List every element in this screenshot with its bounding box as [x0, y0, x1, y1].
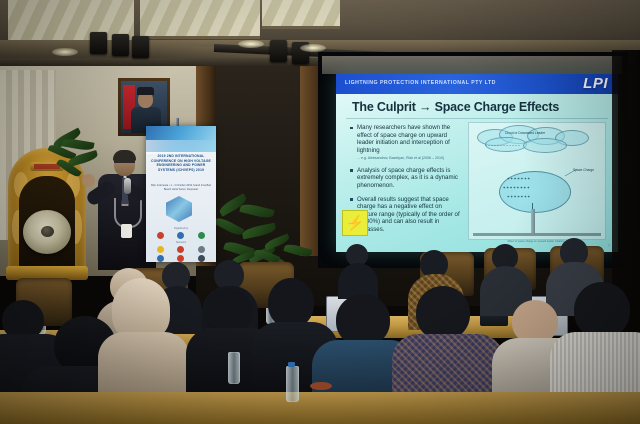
water-bottle	[228, 352, 240, 384]
slide-bullet: Analysis of space charge effects is extr…	[350, 167, 462, 190]
slide-number: 7	[608, 244, 610, 248]
eyeglasses-icon	[114, 161, 135, 167]
slide-diagram: Cloud or Downward Leader – – – – – – – –…	[468, 122, 606, 240]
peci-cap	[137, 87, 154, 95]
conference-photo-scene: 2019 2ND INTERNATIONAL CONFERENCE ON HIG…	[0, 0, 640, 424]
slide-title: The Culprit → Space Charge Effects	[352, 100, 559, 114]
ground-line	[473, 233, 601, 236]
lightning-bolt-icon: ⚡	[342, 210, 368, 236]
sponsor-logo-row	[150, 246, 212, 253]
gong-boss	[41, 226, 54, 237]
water-bottle	[286, 366, 299, 402]
conference-cube-logo-icon	[166, 196, 196, 226]
microphone-icon	[124, 178, 131, 194]
screen-top-strip	[322, 56, 622, 74]
stage-light-icon	[270, 40, 287, 62]
leader-line	[565, 167, 577, 177]
sponsor-logo-row	[150, 232, 212, 239]
ceiling-panel	[262, 0, 340, 29]
badge	[121, 224, 132, 238]
presenter-hair	[113, 150, 136, 161]
banner-subtitle: Bali, Indonesia • 1 - 4 October 2019 Gra…	[151, 184, 211, 191]
slide-divider	[346, 118, 608, 119]
slide-bullet: Many researchers have shown the effect o…	[350, 124, 462, 161]
foreground-table	[0, 392, 640, 424]
banner-sponsor-caption: Sponsors	[150, 241, 212, 244]
slide-bullet-text: Analysis of space charge effects is extr…	[357, 167, 458, 189]
stage-light-icon	[112, 34, 129, 56]
ceiling-light-glow	[238, 40, 264, 48]
ceiling-light-glow	[52, 48, 78, 56]
stage-light-icon	[132, 36, 149, 58]
lightning-mast	[531, 209, 535, 235]
sponsor-logo-row	[150, 255, 212, 262]
banner-wave-graphic	[146, 140, 216, 154]
slide-bullet-text: Overall results suggest that space charg…	[357, 196, 460, 233]
conference-banner: 2019 2ND INTERNATIONAL CONFERENCE ON HIG…	[146, 126, 216, 262]
ceiling-light-glow	[300, 44, 326, 52]
banner-header-band	[146, 126, 216, 152]
slide-header-text: LIGHTNING PROTECTION INTERNATIONAL PTY L…	[345, 80, 496, 86]
snack-dish	[310, 382, 332, 390]
stage-light-icon	[90, 32, 107, 54]
banner-sponsor-caption: Organized by	[150, 227, 212, 230]
dark-curtain-right	[612, 50, 640, 310]
banner-title: 2019 2ND INTERNATIONAL CONFERENCE ON HIG…	[150, 154, 212, 172]
presenter-hand	[82, 174, 95, 187]
slide-bullet-citation: ... e.g. Aleksandrov, Bazelyan, Rizk et …	[357, 156, 462, 161]
projection-screen: LIGHTNING PROTECTION INTERNATIONAL PTY L…	[336, 74, 618, 252]
bottle-cap	[288, 362, 295, 367]
ceiling-panel	[140, 0, 260, 39]
diagram-cloud-label: Cloud or Downward Leader	[505, 131, 545, 135]
slide-bullet-text: Many researchers have shown the effect o…	[357, 124, 450, 154]
lpi-logo: LPI	[583, 75, 608, 92]
